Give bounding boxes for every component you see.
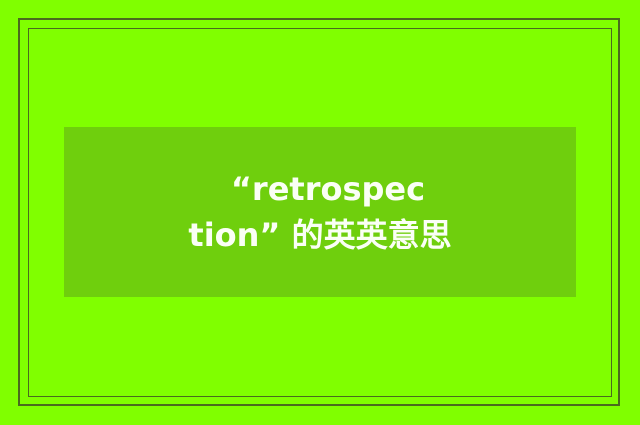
- headline-text: “retrospec tion” 的英英意思: [64, 166, 576, 258]
- headline-panel: “retrospec tion” 的英英意思: [64, 127, 576, 297]
- headline-line-2: tion” 的英英意思: [64, 212, 576, 258]
- headline-line-1: “retrospec: [64, 166, 576, 212]
- image-card: “retrospec tion” 的英英意思: [0, 0, 640, 425]
